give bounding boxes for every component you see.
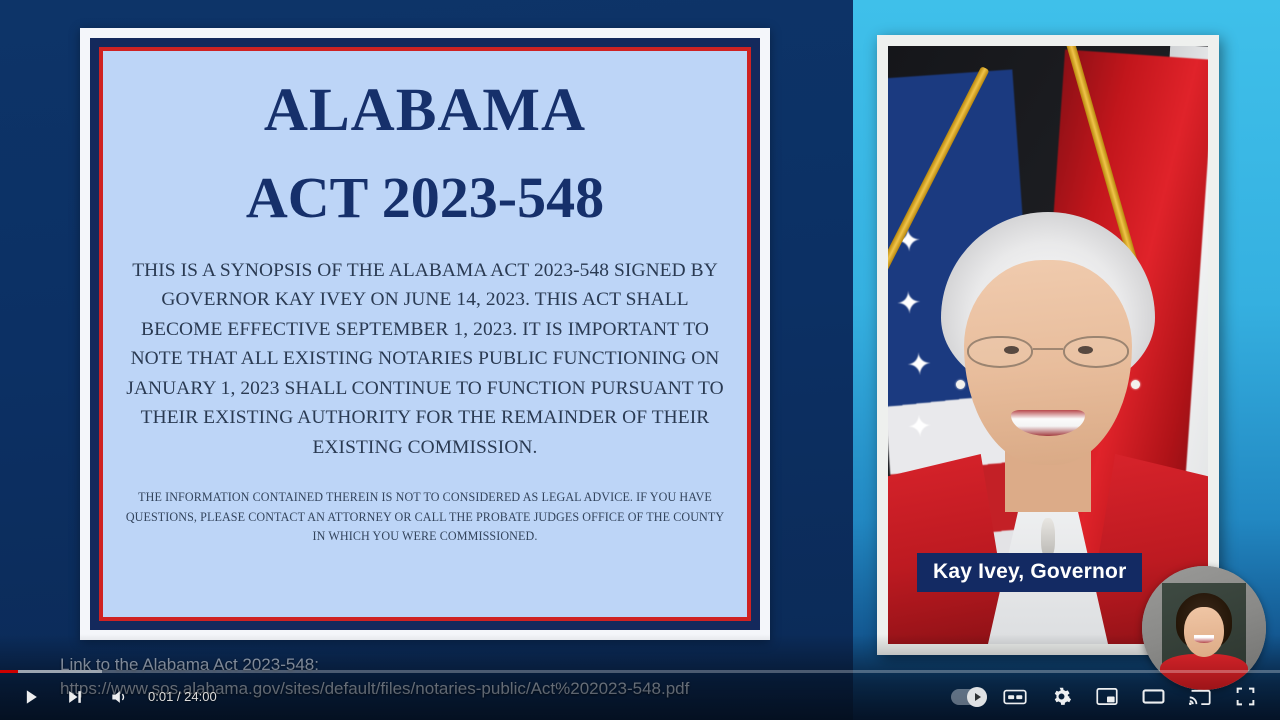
player-controls-right[interactable]: [948, 673, 1280, 720]
act-fineprint-disclaimer: THE INFORMATION CONTAINED THEREIN IS NOT…: [117, 488, 733, 547]
subtitles-button[interactable]: [994, 673, 1036, 720]
next-video-button[interactable]: [54, 673, 96, 720]
act-body-text: THIS IS A SYNOPSIS OF THE ALABAMA ACT 20…: [117, 256, 733, 462]
eyeglasses: [965, 336, 1131, 370]
volume-button[interactable]: [98, 673, 140, 720]
play-button[interactable]: [10, 673, 52, 720]
act-title: ALABAMA: [264, 77, 586, 144]
theater-mode-button[interactable]: [1132, 673, 1174, 720]
player-controls[interactable]: 0:01 / 24:00: [0, 673, 1280, 720]
fullscreen-button[interactable]: [1224, 673, 1266, 720]
settings-button[interactable]: [1040, 673, 1082, 720]
act-card-navy-border: ALABAMA ACT 2023-548 THIS IS A SYNOPSIS …: [90, 38, 760, 630]
cast-button[interactable]: [1178, 673, 1220, 720]
act-document-card: ALABAMA ACT 2023-548 THIS IS A SYNOPSIS …: [80, 28, 770, 640]
autoplay-toggle[interactable]: [948, 673, 990, 720]
necklace: [1041, 518, 1055, 558]
time-display: 0:01 / 24:00: [142, 689, 227, 704]
video-player-stage[interactable]: ALABAMA ACT 2023-548 THIS IS A SYNOPSIS …: [0, 0, 1280, 720]
governor-name-badge: Kay Ivey, Governor: [917, 553, 1142, 592]
player-controls-left[interactable]: 0:01 / 24:00: [0, 673, 227, 720]
miniplayer-button[interactable]: [1086, 673, 1128, 720]
earring-right: [1131, 380, 1140, 389]
earring-left: [956, 380, 965, 389]
slide-left-panel: ALABAMA ACT 2023-548 THIS IS A SYNOPSIS …: [0, 0, 853, 720]
act-subtitle: ACT 2023-548: [246, 166, 604, 230]
act-card-red-border: ALABAMA ACT 2023-548 THIS IS A SYNOPSIS …: [99, 47, 751, 621]
